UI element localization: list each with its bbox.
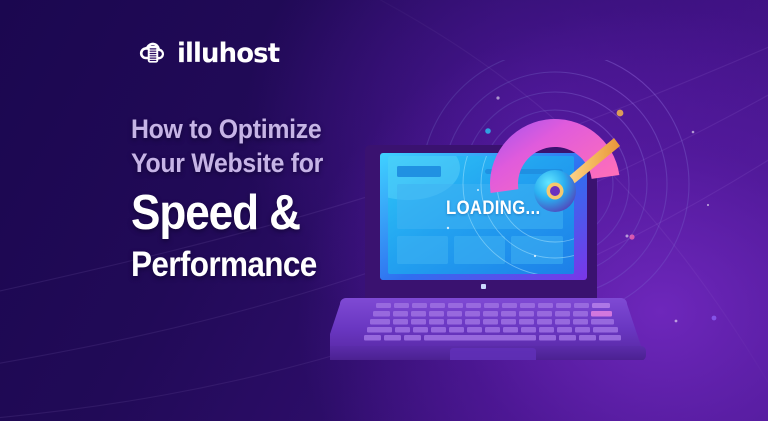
laptop-base — [330, 298, 646, 360]
brand-logo[interactable]: illuhost — [136, 38, 284, 69]
gauge-hub-core — [550, 186, 560, 196]
trackpad — [450, 348, 536, 360]
webcam-dot — [481, 284, 486, 289]
cloud-server-icon — [136, 39, 170, 69]
wireframe-card-2 — [454, 236, 505, 264]
wireframe-logo-block — [397, 166, 441, 177]
wireframe-card-1 — [397, 236, 448, 264]
wireframe-card-3 — [511, 236, 563, 264]
promo-banner: illuhost How to Optimize Your Website fo… — [0, 0, 768, 421]
brand-wordmark: illuhost — [177, 38, 279, 69]
laptop-illustration — [330, 60, 730, 360]
